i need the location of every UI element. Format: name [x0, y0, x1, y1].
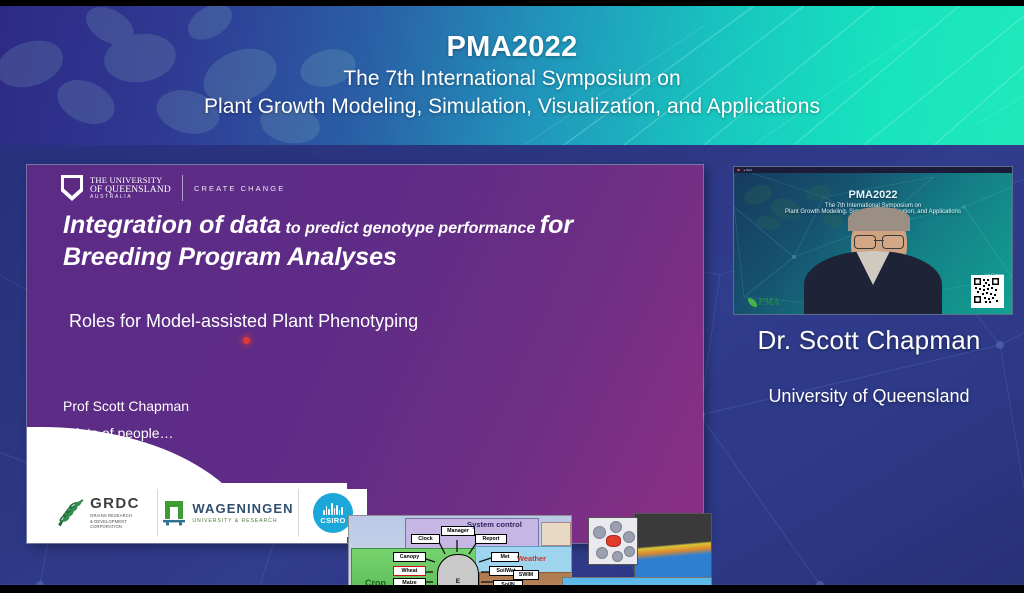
pma-leaf-icon — [748, 298, 757, 307]
speaker-torso — [804, 251, 942, 315]
conference-header-banner: PMA2022 The 7th International Symposium … — [0, 6, 1024, 145]
module-met[interactable]: Met — [491, 552, 519, 562]
presentation-slide[interactable]: THE UNIVERSITY OF QUEENSLAND AUSTRALIA C… — [27, 165, 703, 543]
author-name: Prof Scott Chapman — [63, 393, 189, 420]
wageningen-mark-icon — [162, 500, 186, 526]
wageningen-logo: WAGENINGEN UNIVERSITY & RESEARCH — [158, 489, 299, 537]
speaker-video-feed[interactable]: PMA2022 The 7th International Symposium … — [733, 166, 1013, 315]
module-canopy[interactable]: Canopy — [393, 552, 426, 562]
pma-logo: PMA — [748, 297, 780, 308]
author-collaborators: & lots of people… — [63, 420, 189, 447]
uq-wordmark: THE UNIVERSITY OF QUEENSLAND AUSTRALIA — [90, 176, 171, 201]
zone-label-weather: Weather — [517, 554, 546, 563]
wheat-sheaf-icon — [56, 497, 86, 529]
uq-logo-lockup: THE UNIVERSITY OF QUEENSLAND AUSTRALIA C… — [61, 175, 285, 201]
uq-line3: AUSTRALIA — [90, 195, 171, 200]
pma-logo-text: PMA — [758, 297, 780, 308]
record-indicator-icon — [737, 169, 740, 172]
video-app-toolbar[interactable]: ● REC — [734, 167, 1013, 173]
module-maize[interactable]: Maize — [393, 578, 426, 585]
node-dot — [624, 546, 635, 557]
qr-code-icon — [971, 275, 1004, 308]
grdc-logo: GRDC GRAINS RESEARCH & DEVELOPMENT CORPO… — [39, 489, 158, 537]
header-text-block: PMA2022 The 7th International Symposium … — [0, 6, 1024, 145]
glasses-icon — [854, 235, 904, 247]
slide-title-part4: Breeding Program Analyses — [63, 243, 397, 271]
glasses-right-lens — [882, 235, 904, 249]
module-swim[interactable]: SWIM — [513, 570, 539, 580]
speaker-info-block: Dr. Scott Chapman University of Queensla… — [714, 325, 1024, 407]
module-report[interactable]: Report — [475, 534, 507, 544]
uq-crest-icon — [61, 175, 83, 201]
uq-tagline: CREATE CHANGE — [194, 184, 285, 193]
center-node-dot — [606, 535, 621, 547]
slide-title: Integration of data to predict genotype … — [63, 209, 653, 273]
laser-pointer-dot — [243, 337, 250, 344]
letterbox-bottom — [0, 585, 1024, 593]
slide-author-block: Prof Scott Chapman & lots of people… — [63, 393, 189, 448]
grdc-name: GRDC — [90, 496, 140, 511]
slide-title-part1: Integration of data — [63, 211, 281, 239]
video-bg-title: PMA2022 — [734, 189, 1012, 201]
speaker-hair — [848, 207, 910, 231]
grdc-wordmark: GRDC GRAINS RESEARCH & DEVELOPMENT CORPO… — [90, 496, 140, 531]
node-dot — [623, 531, 635, 543]
node-dot — [612, 551, 623, 562]
uq-line1: THE UNIVERSITY — [90, 176, 171, 185]
letterbox-top — [0, 0, 1024, 6]
speaker-name: Dr. Scott Chapman — [714, 325, 1024, 356]
grdc-subtitle: GRAINS RESEARCH & DEVELOPMENT CORPORATIO… — [90, 513, 140, 531]
qr-code-svg — [973, 277, 1000, 304]
zone-label-crop: Crop — [365, 578, 386, 585]
zone-label-system-control: System control — [467, 520, 522, 529]
wageningen-name: WAGENINGEN — [192, 502, 293, 515]
conference-title: PMA2022 — [446, 31, 577, 63]
node-dot — [596, 547, 608, 559]
sponsor-logo-strip: GRDC GRAINS RESEARCH & DEVELOPMENT CORPO… — [39, 489, 367, 537]
logo-divider — [182, 175, 183, 201]
module-wheat[interactable]: Wheat — [393, 566, 426, 576]
slide-title-part3: for — [540, 211, 573, 239]
conference-subtitle-line2: Plant Growth Modeling, Simulation, Visua… — [204, 93, 820, 121]
toolbar-label: ● REC — [744, 169, 753, 172]
node-dot — [593, 526, 606, 539]
slide-subtitle: Roles for Model-assisted Plant Phenotypi… — [69, 311, 418, 332]
webinar-stage: PMA2022 The 7th International Symposium … — [0, 0, 1024, 593]
glasses-left-lens — [854, 235, 876, 249]
csiro-bars-icon — [323, 502, 343, 515]
collage-network-diagram — [588, 517, 638, 565]
csiro-name: CSIRO — [320, 516, 345, 525]
slide-title-part2: to predict genotype performance — [286, 220, 536, 237]
csiro-badge-icon: CSIRO — [313, 493, 353, 533]
speaker-collar — [856, 251, 890, 285]
wageningen-subtitle: UNIVERSITY & RESEARCH — [192, 518, 293, 524]
conference-subtitle-line1: The 7th International Symposium on — [343, 65, 680, 93]
apsim-engine-core: E N G I N E — [437, 554, 479, 585]
speaker-affiliation: University of Queensland — [714, 386, 1024, 407]
wageningen-wordmark: WAGENINGEN UNIVERSITY & RESEARCH — [192, 502, 293, 524]
engine-letter: E — [456, 578, 460, 585]
collage-field-strips-photo — [634, 513, 712, 585]
node-dot — [610, 521, 622, 533]
apsim-model-diagram[interactable]: E N G I N E System control Crop Weather … — [348, 515, 572, 585]
module-clock[interactable]: Clock — [411, 534, 440, 544]
participant-video-secondary[interactable] — [562, 577, 712, 585]
